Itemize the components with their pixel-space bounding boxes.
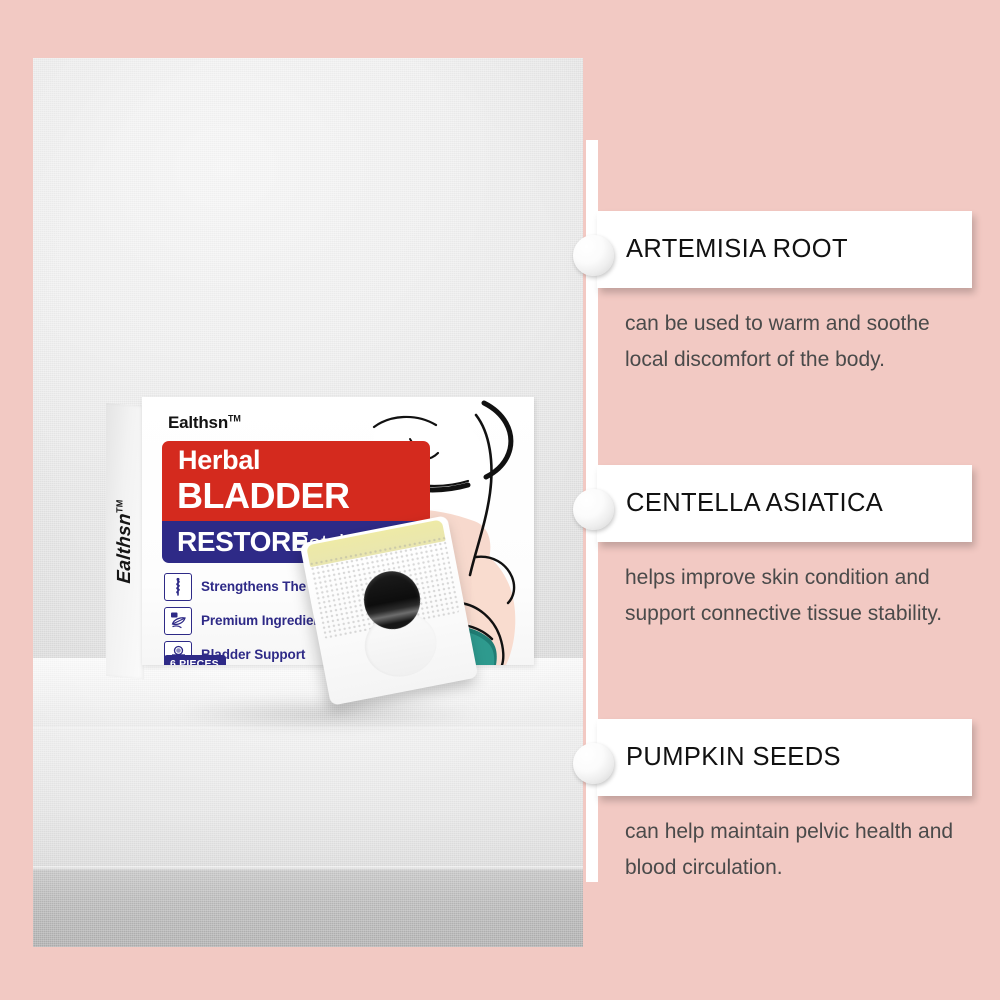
box-brand-text: Ealthsn	[168, 413, 228, 432]
caduceus-icon	[164, 573, 192, 601]
ingredient-title: PUMPKIN SEEDS	[626, 743, 841, 772]
pedestal-front-face	[33, 728, 583, 871]
ingredient-description: helps improve skin condition and support…	[625, 560, 977, 632]
box-count-badge: 6 PIECES	[164, 655, 226, 665]
box-title-restore: RESTORE	[177, 526, 309, 558]
box-spine-trademark: TM	[115, 499, 125, 513]
ingredient-description: can be used to warm and soothe local dis…	[625, 306, 977, 378]
herb-leaf-icon	[164, 607, 192, 635]
caduceus-icon-svg	[169, 577, 187, 597]
box-red-band: Herbal BLADDER	[162, 441, 430, 525]
herb-leaf-icon-svg	[169, 611, 188, 630]
ingredient-title-card[interactable]: CENTELLA ASIATICA	[597, 465, 972, 542]
product-photo-panel: EalthsnTM EalthsnTM	[33, 58, 583, 947]
box-title-bladder: BLADDER	[177, 475, 350, 517]
ingredient-title-card[interactable]: PUMPKIN SEEDS	[597, 719, 972, 796]
ingredient-bullet-icon	[573, 489, 614, 530]
ingredient-description: can help maintain pelvic health and bloo…	[625, 814, 977, 886]
box-brand-trademark: TM	[228, 413, 241, 423]
ingredient-bullet-icon	[573, 235, 614, 276]
product-infographic-poster: EalthsnTM EalthsnTM	[0, 0, 1000, 1000]
box-title-herbal: Herbal	[178, 445, 260, 476]
box-spine-brand-text: Ealthsn	[114, 512, 135, 584]
ingredient-title: ARTEMISIA ROOT	[626, 235, 848, 264]
box-contact-shadow	[123, 693, 523, 735]
box-brand-name: EalthsnTM	[168, 413, 241, 433]
box-spine-brand: EalthsnTM	[114, 499, 136, 584]
ingredient-title-card[interactable]: ARTEMISIA ROOT	[597, 211, 972, 288]
adhesive-patch-product	[300, 515, 479, 706]
ingredient-bullet-icon	[573, 743, 614, 784]
ingredient-title: CENTELLA ASIATICA	[626, 489, 883, 518]
box-spine-panel: EalthsnTM	[106, 403, 144, 679]
pedestal-lower-step	[33, 870, 583, 947]
